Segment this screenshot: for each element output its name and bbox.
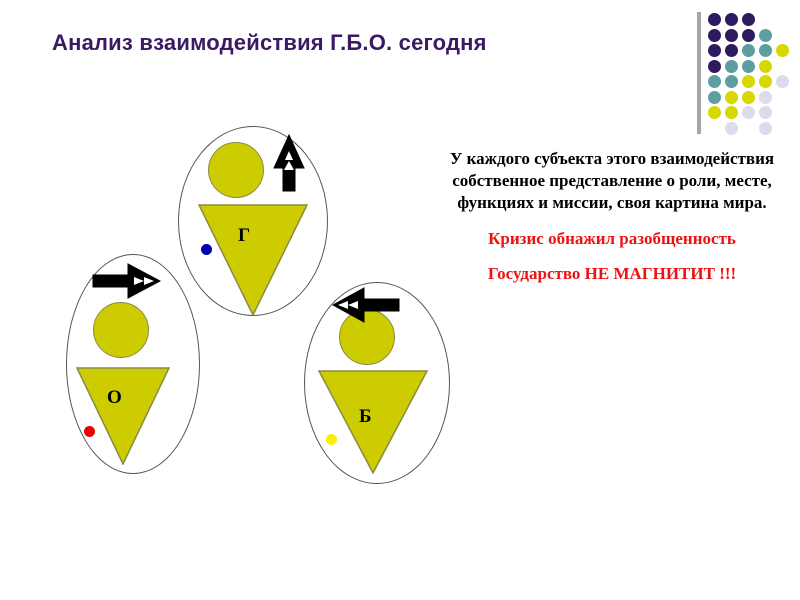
decorative-dot-lavender (776, 75, 789, 88)
decorative-dot-purple (725, 13, 738, 26)
node-obshchestvo-circle (93, 302, 149, 358)
decorative-dot-yellow (759, 75, 772, 88)
status-dot-red (84, 426, 95, 437)
decorative-dot-teal (725, 75, 738, 88)
paragraph-main: У каждого субъекта этого взаимодействия … (434, 148, 790, 214)
slide-canvas: Анализ взаимодействия Г.Б.О. сегодня Г (0, 0, 800, 600)
decorative-dot-lavender (742, 106, 755, 119)
decorative-dot-yellow (759, 60, 772, 73)
decorative-dot-yellow (742, 75, 755, 88)
node-gosudarstvo-triangle (198, 204, 308, 316)
decorative-dot-yellow (708, 106, 721, 119)
decorative-dot-purple (742, 13, 755, 26)
arrow-right-icon (92, 262, 162, 300)
decorative-dot-purple (742, 29, 755, 42)
node-obshchestvo-label: О (107, 388, 122, 407)
node-biznes-triangle (318, 370, 428, 474)
decorative-dot-purple (725, 44, 738, 57)
node-gosudarstvo-label: Г (238, 226, 250, 245)
interaction-diagram: Г О (0, 0, 470, 540)
status-dot-yellow (326, 434, 337, 445)
text-column: У каждого субъекта этого взаимодействия … (434, 148, 790, 297)
node-obshchestvo[interactable]: О (66, 254, 200, 474)
decorative-dot-teal (725, 60, 738, 73)
decorative-dot-teal (759, 29, 772, 42)
decorative-dot-lavender (725, 122, 738, 135)
decorative-dot-purple (708, 13, 721, 26)
node-biznes-label: Б (359, 407, 372, 426)
vertical-rule (697, 12, 701, 134)
decorative-dot-lavender (759, 122, 772, 135)
decorative-dot-lavender (759, 106, 772, 119)
node-gosudarstvo-circle (208, 142, 264, 198)
status-dot-blue (201, 244, 212, 255)
decorative-dot-yellow (725, 91, 738, 104)
decorative-dot-purple (708, 60, 721, 73)
accent-line-1: Кризис обнажил разобщенность (434, 228, 790, 250)
decorative-dot-teal (759, 44, 772, 57)
decorative-dot-grid (692, 10, 800, 136)
node-obshchestvo-triangle (76, 367, 170, 465)
decorative-dot-purple (708, 44, 721, 57)
decorative-dot-purple (708, 29, 721, 42)
decorative-dot-teal (708, 91, 721, 104)
node-biznes[interactable]: Б (304, 282, 450, 484)
decorative-dot-yellow (742, 91, 755, 104)
decorative-dot-lavender (759, 91, 772, 104)
arrow-left-icon (332, 286, 400, 324)
arrow-up-icon (271, 134, 307, 192)
accent-line-2: Государство НЕ МАГНИТИТ !!! (434, 263, 790, 285)
decorative-dot-teal (742, 60, 755, 73)
decorative-dot-yellow (725, 106, 738, 119)
decorative-dot-purple (725, 29, 738, 42)
decorative-dot-teal (742, 44, 755, 57)
decorative-dot-yellow (776, 44, 789, 57)
decorative-dot-teal (708, 75, 721, 88)
